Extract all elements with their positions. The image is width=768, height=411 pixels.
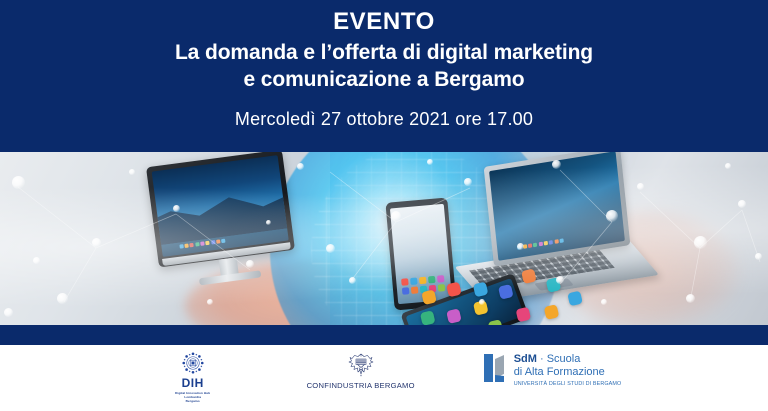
- network-node: [129, 169, 135, 175]
- network-node: [207, 299, 213, 305]
- network-node: [755, 253, 762, 260]
- network-node: [738, 200, 746, 208]
- network-node: [686, 294, 695, 303]
- flyer-header: EVENTO La domanda e l’offerta di digital…: [0, 0, 768, 152]
- eagle-emblem-icon: [346, 352, 376, 378]
- network-node: [33, 257, 40, 264]
- network-node: [266, 220, 271, 225]
- sdm-line-2: di Alta Formazione: [514, 366, 622, 379]
- sdm-book-blocks-icon: [483, 353, 509, 383]
- logo-confindustria-bergamo[interactable]: CONFINDUSTRIA BERGAMO: [297, 350, 425, 390]
- network-node: [427, 159, 433, 165]
- sdm-line-1: SdM · Scuola: [514, 353, 622, 366]
- sdm-line-1-rest: · Scuola: [537, 353, 580, 365]
- partner-logos: DIH Digital Innovation Hub Lombardia Ber…: [0, 345, 768, 411]
- event-title: La domanda e l’offerta di digital market…: [0, 40, 768, 94]
- sdm-text-block: SdM · Scuola di Alta Formazione UNIVERSI…: [514, 353, 622, 387]
- event-kicker: EVENTO: [0, 9, 768, 34]
- confindustria-wordmark: CONFINDUSTRIA BERGAMO: [297, 381, 425, 390]
- network-node: [4, 308, 13, 317]
- logo-dih[interactable]: DIH Digital Innovation Hub Lombardia Ber…: [147, 350, 239, 404]
- network-node: [297, 163, 304, 170]
- dih-subtitle: Digital Innovation Hub Lombardia Bergamo: [147, 391, 239, 404]
- dih-wordmark: DIH: [147, 377, 239, 389]
- network-node: [694, 236, 707, 249]
- network-node: [556, 276, 564, 284]
- footer-divider: [0, 325, 768, 345]
- network-node: [12, 176, 25, 189]
- network-node: [173, 205, 180, 212]
- dih-emblem-icon: [180, 350, 206, 376]
- network-node: [92, 238, 101, 247]
- event-datetime: Mercoledì 27 ottobre 2021 ore 17.00: [0, 109, 768, 130]
- network-nodes: [0, 152, 768, 325]
- network-node: [246, 260, 254, 268]
- network-node: [517, 243, 524, 250]
- network-node: [326, 244, 335, 253]
- network-node: [479, 299, 485, 305]
- network-node: [57, 293, 68, 304]
- sdm-acronym: SdM: [514, 353, 537, 365]
- network-node: [606, 210, 618, 222]
- hero-image: [0, 152, 768, 325]
- network-node: [391, 211, 401, 221]
- network-node: [349, 277, 356, 284]
- network-node: [601, 299, 607, 305]
- network-node: [637, 183, 644, 190]
- network-node: [725, 163, 731, 169]
- event-flyer: EVENTO La domanda e l’offerta di digital…: [0, 0, 768, 411]
- dih-subtitle-line-3: Bergamo: [147, 399, 239, 403]
- logo-sdm[interactable]: SdM · Scuola di Alta Formazione UNIVERSI…: [483, 350, 622, 387]
- network-node: [464, 178, 472, 186]
- event-title-line-1: La domanda e l’offerta di digital market…: [60, 40, 708, 67]
- network-node: [552, 160, 561, 169]
- event-title-line-2: e comunicazione a Bergamo: [60, 67, 708, 94]
- sdm-university: UNIVERSITÀ DEGLI STUDI DI BERGAMO: [514, 381, 622, 387]
